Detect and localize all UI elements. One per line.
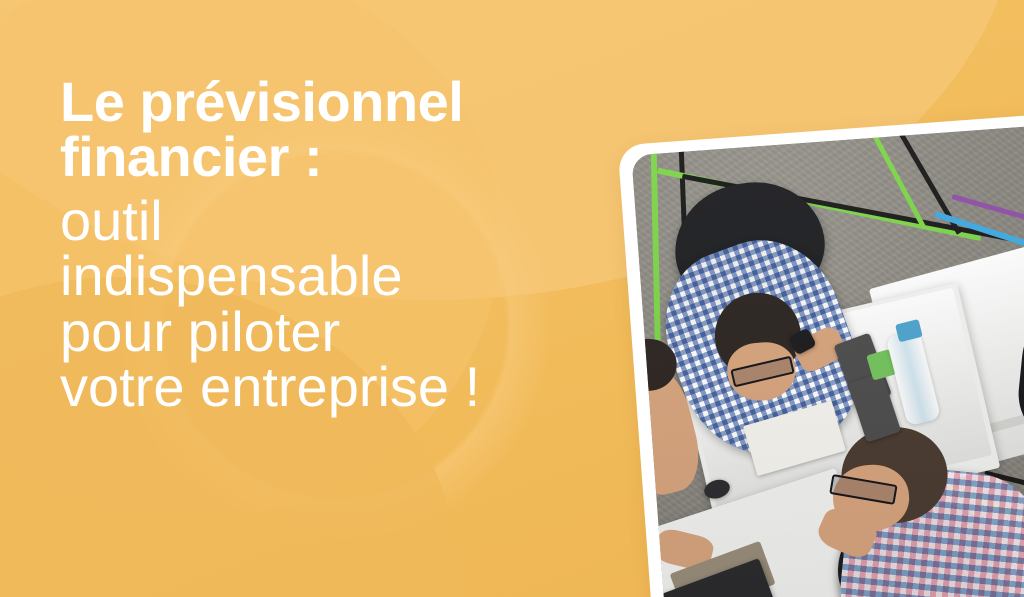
headline-line-5: pour piloter [60,304,640,359]
photo-frame [618,112,1024,597]
headline-block: Le prévisionnel financier : outil indisp… [60,74,640,415]
headline-line-3: outil [60,193,640,248]
headline-line-1: Le prévisionnel [60,74,640,129]
headline-line-6: votre entreprise ! [60,359,640,414]
headline-line-2: financier : [60,129,640,184]
photo-panel [618,112,1024,597]
photo-image [631,123,1024,597]
headline-line-4: indispensable [60,248,640,303]
marketing-banner: Le prévisionnel financier : outil indisp… [0,0,1024,597]
